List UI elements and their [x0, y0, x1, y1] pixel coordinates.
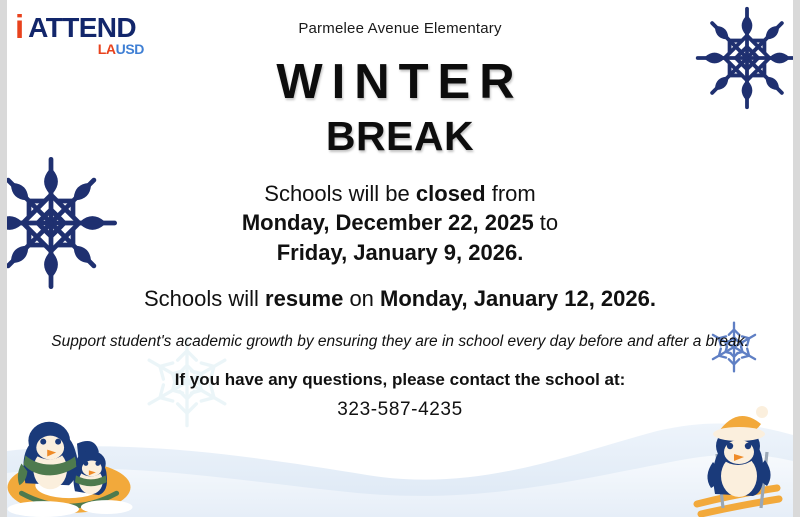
closure-dates-block: Schools will be closed from Monday, Dece…	[7, 179, 793, 267]
closure-line-2-post: to	[534, 210, 558, 235]
closure-line-1-pre: Schools will be	[264, 181, 416, 206]
closure-line-2: Monday, December 22, 2025 to	[7, 208, 793, 237]
closure-end-date: Friday, January 9, 2026.	[277, 240, 524, 265]
resume-line: Schools will resume on Monday, January 1…	[7, 286, 793, 312]
flyer-card: i ATTEND LAUSD Parmelee Avenue Elementar…	[7, 0, 793, 517]
closure-keyword-closed: closed	[416, 181, 486, 206]
school-name: Parmelee Avenue Elementary	[7, 20, 793, 37]
resume-keyword: resume	[265, 286, 343, 311]
closure-start-date: Monday, December 22, 2025	[242, 210, 534, 235]
contact-prompt: If you have any questions, please contac…	[7, 370, 793, 390]
flyer-content: Parmelee Avenue Elementary WINTER BREAK …	[7, 0, 793, 421]
title-line-winter: WINTER	[7, 58, 793, 107]
resume-date: Monday, January 12, 2026.	[380, 286, 656, 311]
contact-phone: 323-587-4235	[7, 399, 793, 421]
resume-mid: on	[343, 286, 380, 311]
title-line-break: BREAK	[7, 116, 793, 157]
support-note: Support student's academic growth by ens…	[7, 331, 793, 353]
closure-line-1-post: from	[486, 181, 536, 206]
resume-pre: Schools will	[144, 286, 265, 311]
closure-line-3: Friday, January 9, 2026.	[7, 238, 793, 267]
flyer-page: i ATTEND LAUSD Parmelee Avenue Elementar…	[0, 0, 800, 517]
closure-line-1: Schools will be closed from	[7, 179, 793, 208]
